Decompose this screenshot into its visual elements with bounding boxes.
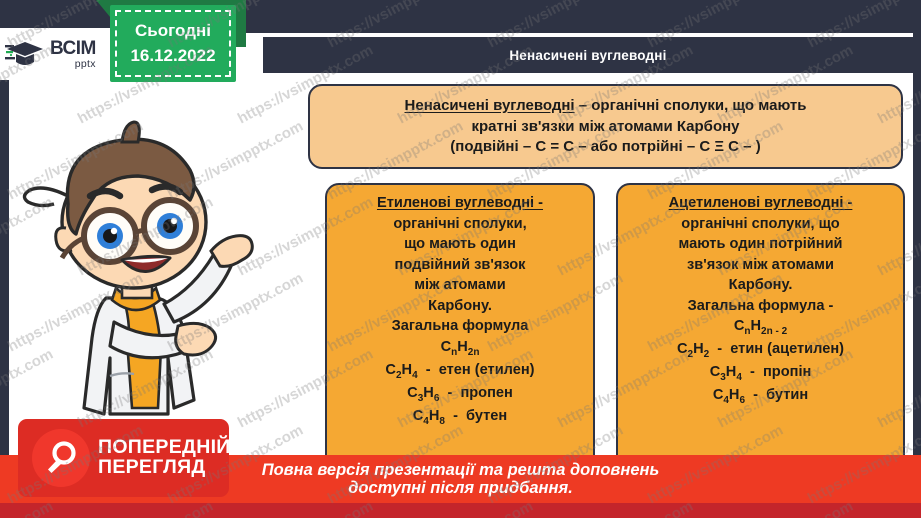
brand-logo: ВСІМ pptx [0, 28, 122, 80]
brand-logo-text: ВСІМ pptx [50, 39, 96, 70]
acetylene-heading: Ацетиленові вуглеводні - [669, 193, 853, 214]
brand-suffix: pptx [75, 59, 96, 70]
presentation-slide: ВСІМ pptx Сьогодні 16.12.2022 Ненасичені… [0, 0, 921, 518]
definition-line-1: Ненасичені вуглеводні – органічні сполук… [405, 96, 807, 116]
ethylene-line: органічні сполуки, [393, 214, 526, 235]
ethylene-line: що мають один [404, 234, 516, 255]
acetylene-line: зв'язок між атомами [687, 255, 834, 276]
ethylene-line: між атомами [414, 275, 506, 296]
preview-label-line-2: ПЕРЕГЛЯД [98, 458, 231, 478]
ethylene-line: Карбону. [428, 296, 492, 317]
date-badge-label: Сьогодні [135, 21, 211, 41]
ethylene-heading: Етиленові вуглеводні - [377, 193, 543, 214]
acetylene-line: Карбону. [729, 275, 793, 296]
ethylene-line: подвійний зв'язок [395, 255, 526, 276]
scientist-character-illustration [18, 108, 274, 426]
acetylene-formula: C2H2 - етин (ацетилен) [677, 339, 844, 362]
date-badge-date: 16.12.2022 [130, 46, 215, 66]
page-title: Ненасичені вуглеводні [509, 48, 666, 63]
acetylene-formula: CnH2n - 2 [734, 316, 787, 339]
slide-header-bar: Ненасичені вуглеводні [263, 37, 913, 73]
bottom-strip [0, 503, 921, 518]
promo-line-1: Повна версія презентації та решта доповн… [262, 461, 660, 479]
brand-name: ВСІМ [50, 39, 96, 58]
ethylene-box: Етиленові вуглеводні - органічні сполуки… [325, 183, 595, 479]
ethylene-formula: C2H4 - етен (етилен) [385, 360, 534, 383]
graduation-cap-icon [5, 38, 47, 70]
acetylene-line: Загальна формула - [688, 296, 834, 317]
definition-term-rest: – органічні сполуки, що мають [575, 97, 807, 114]
date-badge: Сьогодні 16.12.2022 [110, 5, 236, 82]
acetylene-box: Ацетиленові вуглеводні - органічні сполу… [616, 183, 905, 479]
preview-button-label: ПОПЕРЕДНІЙ ПЕРЕГЛЯД [98, 438, 231, 478]
definition-term: Ненасичені вуглеводні [405, 97, 575, 114]
preview-icon-circle [32, 429, 90, 487]
promo-line-2: доступні після придбання. [348, 479, 573, 497]
acetylene-formula: C4H6 - бутин [713, 385, 808, 408]
acetylene-formula: C3H4 - пропін [710, 362, 812, 385]
ethylene-formula: C3H6 - пропен [407, 383, 513, 406]
preview-button[interactable]: ПОПЕРЕДНІЙ ПЕРЕГЛЯД [18, 419, 229, 497]
acetylene-line: органічні сполуки, що [681, 214, 839, 235]
ethylene-formula: C4H8 - бутен [413, 406, 508, 429]
definition-box: Ненасичені вуглеводні – органічні сполук… [308, 84, 903, 169]
magnifier-icon [42, 439, 80, 477]
definition-line-2: кратні зв'язки між атомами Карбону [471, 117, 739, 137]
acetylene-line: мають один потрійний [678, 234, 842, 255]
ethylene-formula: CnH2n [441, 337, 480, 360]
slide-frame-right [913, 0, 921, 455]
definition-line-3: (подвійні – С = С – або потрійні – С Ξ С… [450, 137, 760, 157]
ethylene-line: Загальна формула [392, 316, 529, 337]
